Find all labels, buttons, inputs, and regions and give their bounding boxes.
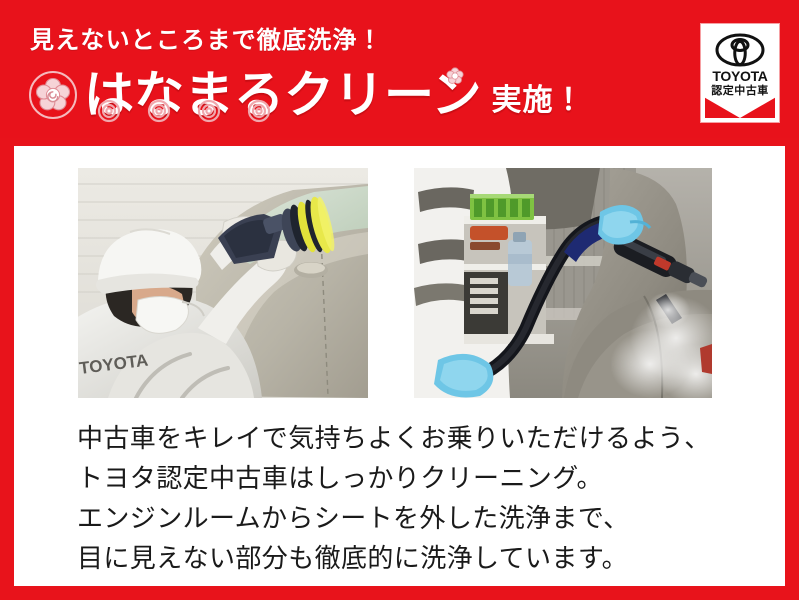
promo-poster: 見えないところまで徹底洗浄！ — [0, 0, 799, 600]
glove-lower — [434, 354, 493, 398]
car-door-handle — [294, 262, 328, 278]
brand-name-katakana-wrap: クリーン — [284, 67, 482, 123]
body-copy-line-1: 中古車をキレイで気持ちよくお乗りいただけるよう、 — [77, 418, 777, 458]
photo-row: TOYOTA — [14, 168, 785, 400]
header-text-block: 見えないところまで徹底洗浄！ — [28, 0, 668, 138]
poster-header: 見えないところまで徹底洗浄！ — [0, 0, 799, 138]
plum-blossom-icon — [28, 70, 78, 120]
page-title: 見えないところまで徹底洗浄！ — [30, 29, 383, 53]
photo-steam-cleaning — [414, 168, 712, 398]
content-card: TOYOTA — [14, 146, 785, 586]
toyota-emblem-icon — [715, 33, 765, 67]
brand-suffix-label: 実施！ — [492, 86, 585, 116]
toyota-certified-badge: TOYOTA 認定中古車 — [701, 24, 779, 122]
cleaner-bottle — [508, 232, 532, 286]
brand-lockup: はなまる クリーン — [28, 64, 585, 126]
toyota-certified-label: 認定中古車 — [705, 86, 775, 97]
photo-steam-cleaning-artwork — [414, 168, 712, 398]
supply-crate — [470, 194, 534, 220]
photo-polishing: TOYOTA — [78, 168, 368, 398]
plum-blossom-glyph — [28, 70, 78, 120]
brand-name-kana: はなまる — [84, 67, 284, 123]
body-copy-line-3: エンジンルームからシートを外した洗浄まで、 — [77, 498, 777, 538]
body-copy-line-2: トヨタ認定中古車はしっかりクリーニング。 — [77, 458, 777, 498]
photo-polishing-artwork: TOYOTA — [78, 168, 368, 398]
mini-plum-blossom-icon — [444, 65, 466, 87]
brand-name-hanamaru: はなまる クリーン — [84, 70, 482, 120]
toyota-badge-inner: TOYOTA 認定中古車 — [705, 28, 775, 118]
toyota-wordmark: TOYOTA — [705, 69, 775, 83]
body-copy-line-4: 目に見えない部分も徹底的に洗浄しています。 — [77, 538, 777, 578]
body-copy: 中古車をキレイで気持ちよくお乗りいただけるよう、 トヨタ認定中古車はしっかりクリ… — [77, 418, 777, 578]
